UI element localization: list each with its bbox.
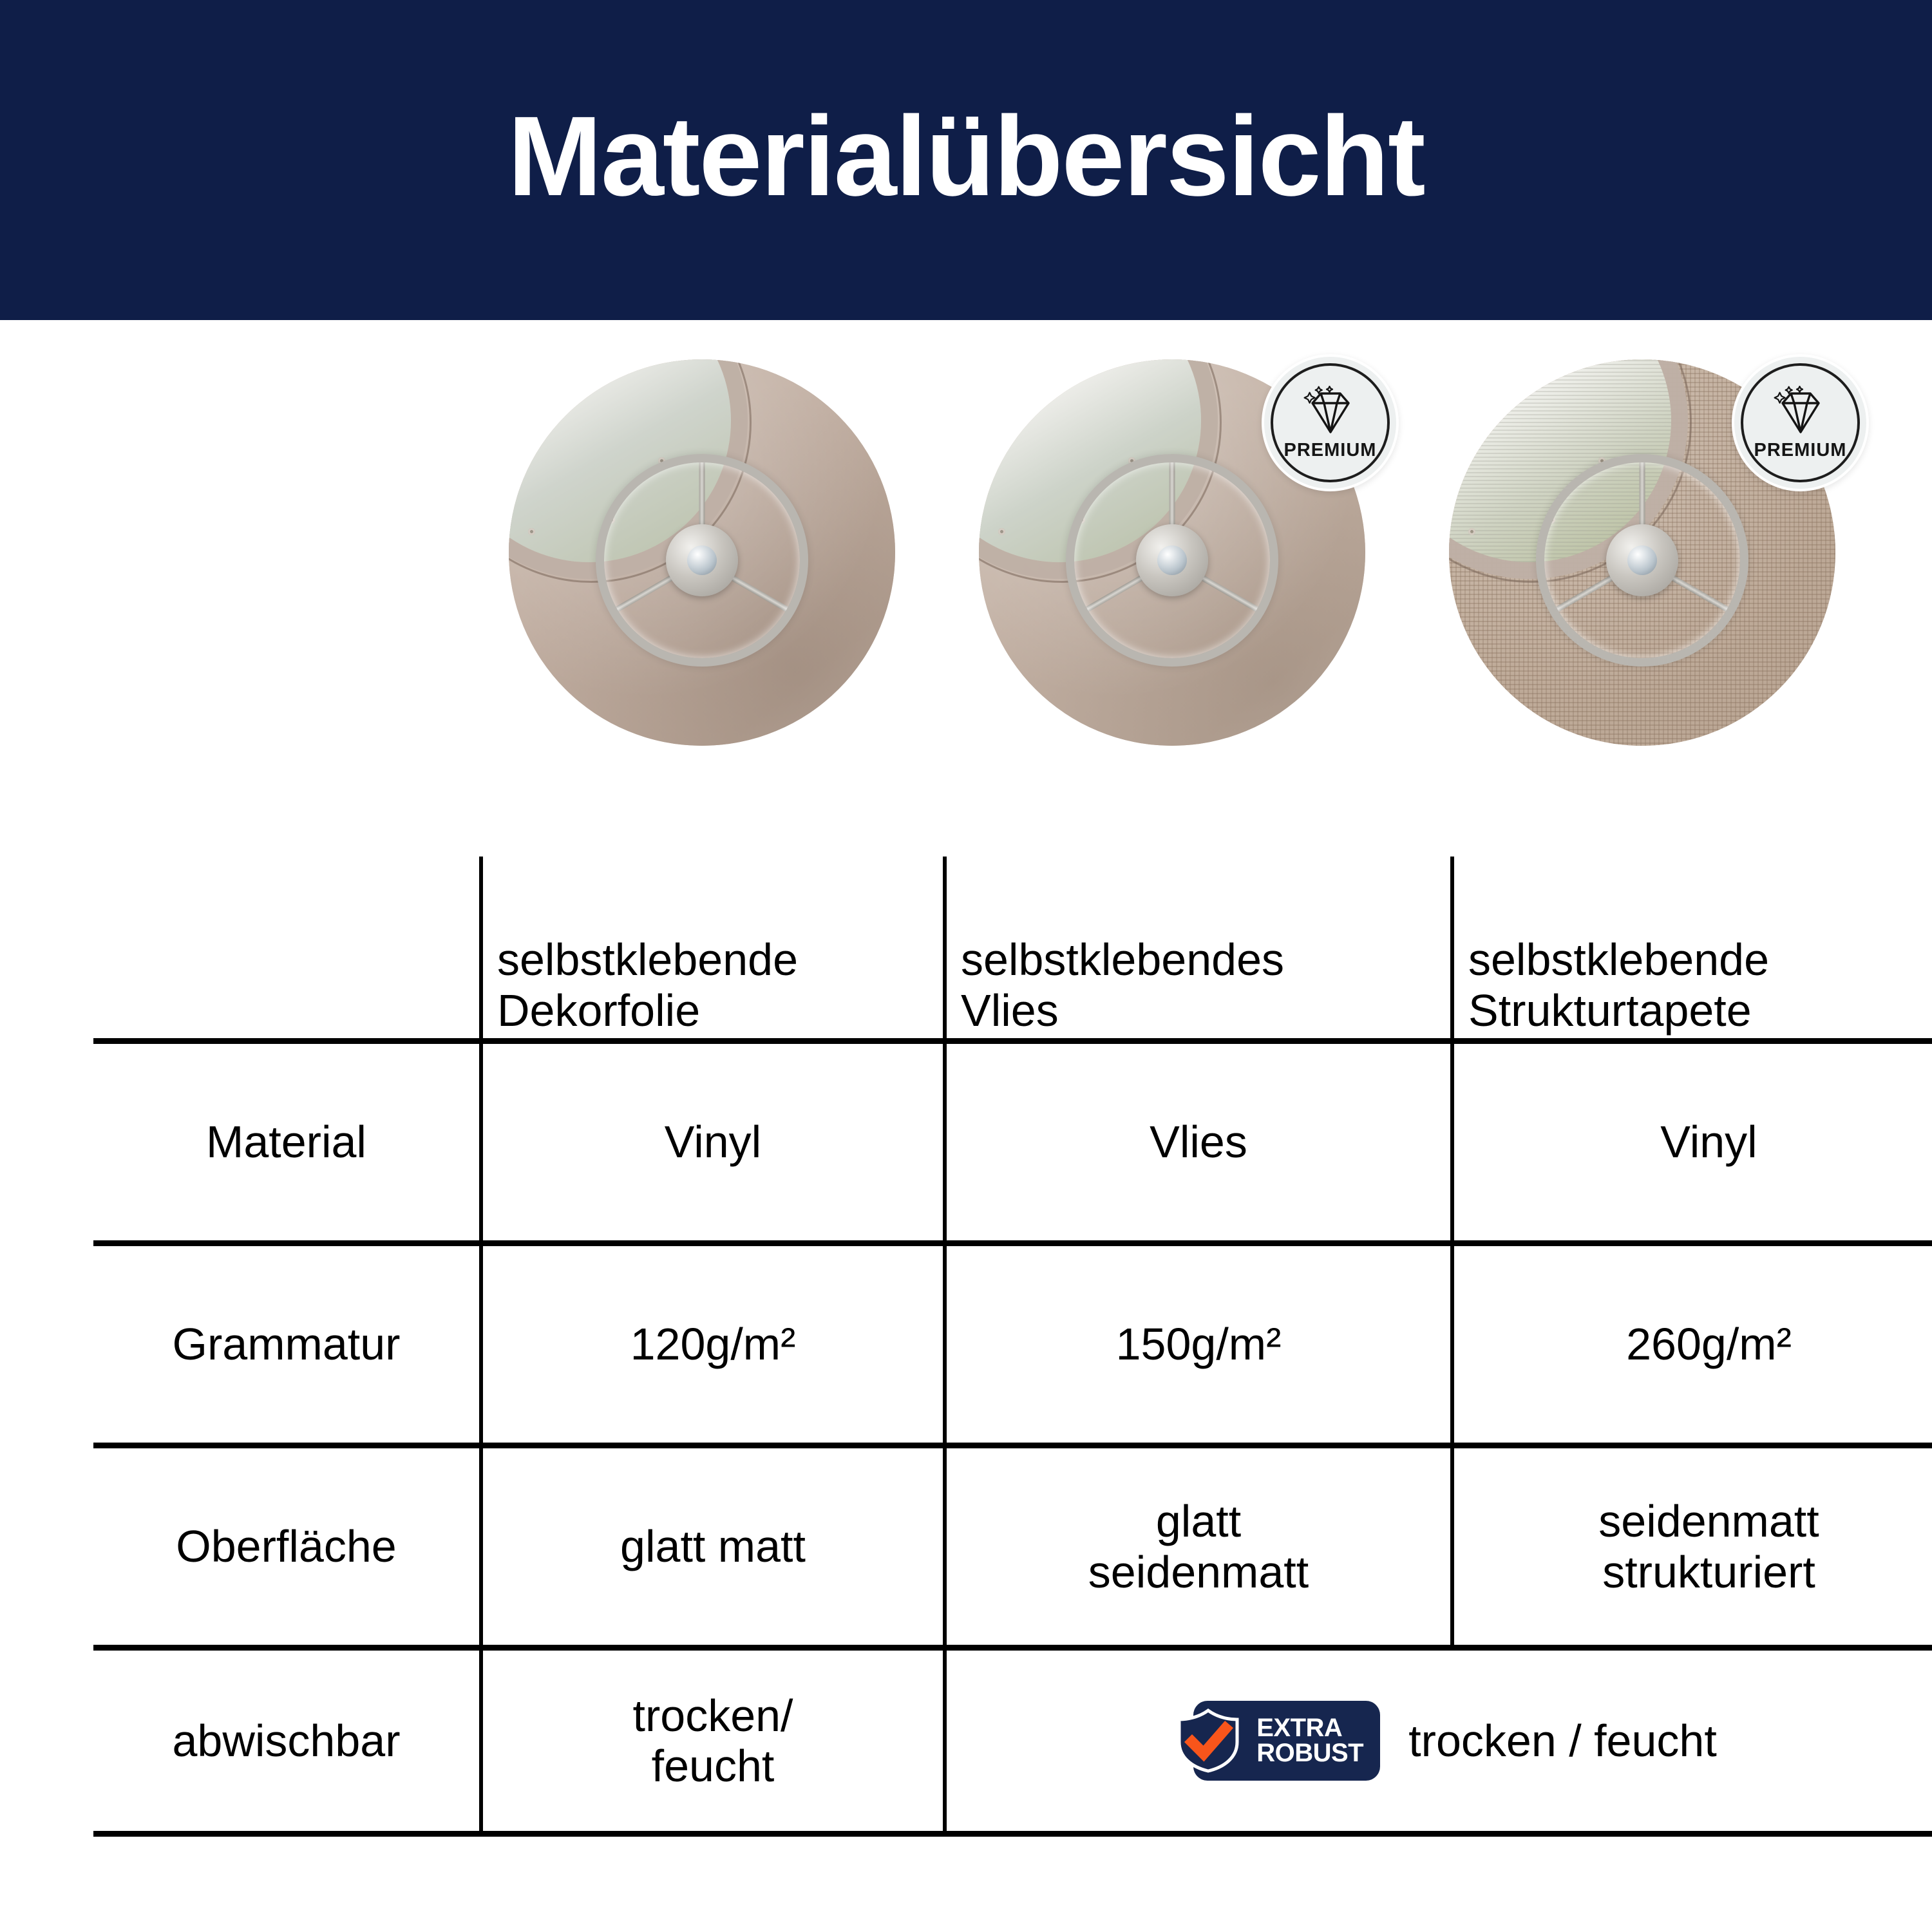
- valve-wheel-icon: [1536, 454, 1748, 667]
- page-title: Materialübersicht: [507, 100, 1424, 213]
- row-label-grammatur: Grammatur: [93, 1244, 481, 1446]
- cell-material-dekorfolie: Vinyl: [481, 1041, 945, 1244]
- rivet: [1468, 528, 1475, 535]
- table-header-row: selbstklebende Dekorfolie selbstklebende…: [93, 857, 1932, 1041]
- product-image-dekorfolie: [509, 359, 895, 746]
- header-empty-cell: [93, 857, 481, 1041]
- table-row: Oberfläche glatt matt glatt seidenmatt s…: [93, 1446, 1932, 1648]
- cell-oberflaeche-dekorfolie: glatt matt: [481, 1446, 945, 1648]
- product-thumb-strukturtapete[interactable]: PREMIUM: [1449, 359, 1835, 746]
- table-row: Grammatur 120g/m² 150g/m² 260g/m²: [93, 1244, 1932, 1446]
- premium-badge-label: PREMIUM: [1754, 441, 1847, 460]
- column-header-vlies: selbstklebendes Vlies: [945, 857, 1452, 1041]
- extra-robust-badge: EXTRA ROBUST: [1193, 1701, 1380, 1781]
- product-thumb-dekorfolie[interactable]: [509, 359, 895, 746]
- cell-grammatur-strukturtapete: 260g/m²: [1452, 1244, 1932, 1446]
- cell-abwischbar-dekorfolie: trocken/ feucht: [481, 1648, 945, 1834]
- row-label-abwischbar: abwischbar: [93, 1648, 481, 1834]
- wheel-hub: [1606, 524, 1678, 596]
- shield-check-icon: [1173, 1709, 1244, 1773]
- table-row: Material Vinyl Vlies Vinyl: [93, 1041, 1932, 1244]
- cell-material-vlies: Vlies: [945, 1041, 1452, 1244]
- cell-grammatur-vlies: 150g/m²: [945, 1244, 1452, 1446]
- cell-oberflaeche-strukturtapete: seidenmatt strukturiert: [1452, 1446, 1932, 1648]
- cell-grammatur-dekorfolie: 120g/m²: [481, 1244, 945, 1446]
- cell-abwischbar-merged: EXTRA ROBUST trocken / feucht: [945, 1648, 1932, 1834]
- diamond-icon: [1770, 386, 1832, 440]
- page-header: Materialübersicht: [0, 0, 1932, 320]
- premium-badge-label: PREMIUM: [1284, 441, 1377, 460]
- cell-abwischbar-merged-text: trocken / feucht: [1408, 1716, 1717, 1766]
- cell-material-strukturtapete: Vinyl: [1452, 1041, 1932, 1244]
- material-comparison-table: selbstklebende Dekorfolie selbstklebende…: [93, 857, 1839, 1810]
- wheel-hub: [666, 524, 738, 596]
- extra-robust-label: EXTRA ROBUST: [1256, 1716, 1363, 1766]
- rivet: [998, 528, 1005, 535]
- column-header-dekorfolie: selbstklebende Dekorfolie: [481, 857, 945, 1041]
- product-image-row: PREMIUM: [0, 341, 1932, 779]
- premium-badge: PREMIUM: [1732, 354, 1869, 491]
- cell-oberflaeche-vlies: glatt seidenmatt: [945, 1446, 1452, 1648]
- row-label-material: Material: [93, 1041, 481, 1244]
- wheel-hub: [1136, 524, 1208, 596]
- product-thumb-vlies[interactable]: PREMIUM: [979, 359, 1365, 746]
- column-header-strukturtapete: selbstklebende Strukturtapete: [1452, 857, 1932, 1041]
- table-row: abwischbar trocken/ feucht EXTRA: [93, 1648, 1932, 1834]
- diamond-icon: [1300, 386, 1361, 440]
- row-label-oberflaeche: Oberfläche: [93, 1446, 481, 1648]
- premium-badge: PREMIUM: [1262, 354, 1399, 491]
- rivet: [528, 528, 535, 535]
- valve-wheel-icon: [1066, 454, 1278, 667]
- valve-wheel-icon: [596, 454, 808, 667]
